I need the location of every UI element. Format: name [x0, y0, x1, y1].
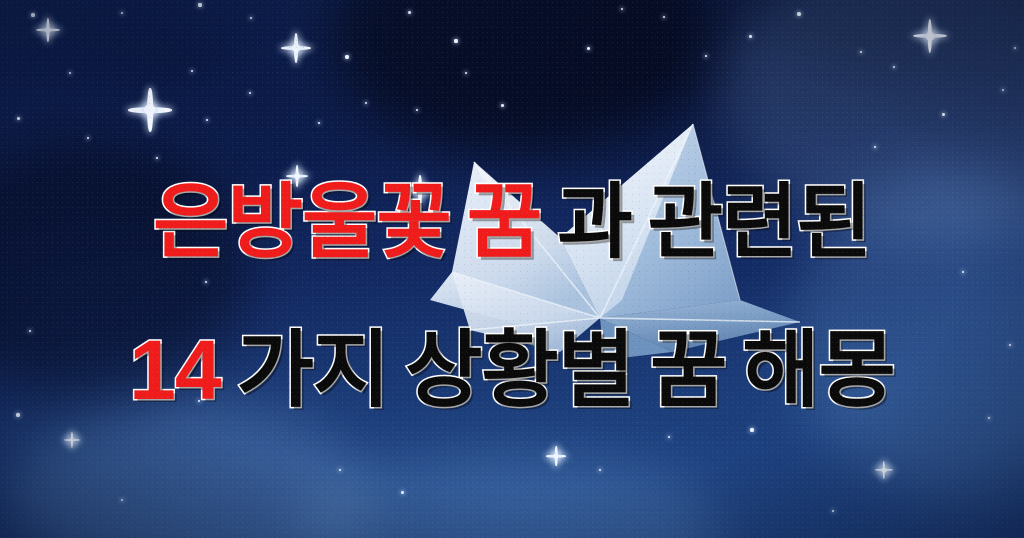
headline-seg-1-4: 관련된 — [648, 182, 871, 264]
headline-seg-1-2: 꿈 — [467, 182, 541, 264]
star-dot — [750, 428, 753, 431]
promo-banner: 은방울꽃꿈과관련된 14가지상황별꿈해몽 — [0, 0, 1024, 538]
headline-line-2: 14가지상황별꿈해몽 — [0, 328, 1024, 412]
star-dot — [401, 491, 404, 494]
star-dot — [587, 47, 590, 50]
star-dot — [942, 113, 945, 116]
headline-seg-2-2: 가지 — [237, 328, 390, 412]
star-dot — [408, 11, 411, 14]
headline-seg-1-3: 과 — [557, 182, 631, 264]
star-dot — [17, 117, 20, 120]
star-dot — [501, 104, 504, 107]
star-dot — [198, 3, 201, 6]
headline-seg-2-4: 꿈 — [650, 328, 726, 412]
star-dot — [797, 12, 801, 16]
star-dot — [454, 39, 457, 42]
night-sky-background — [0, 0, 1024, 538]
headline-seg-2-5: 해몽 — [742, 328, 895, 412]
headline-line-1: 은방울꽃꿈과관련된 — [0, 182, 1024, 264]
star-dot — [31, 13, 35, 17]
star-dot — [749, 35, 752, 38]
headline-seg-2-3: 상황별 — [405, 328, 634, 412]
headline-seg-1-1: 은방울꽃 — [153, 182, 451, 264]
star-dot — [16, 413, 19, 416]
headline-seg-2-1: 14 — [129, 328, 220, 412]
star-dot — [345, 55, 348, 58]
